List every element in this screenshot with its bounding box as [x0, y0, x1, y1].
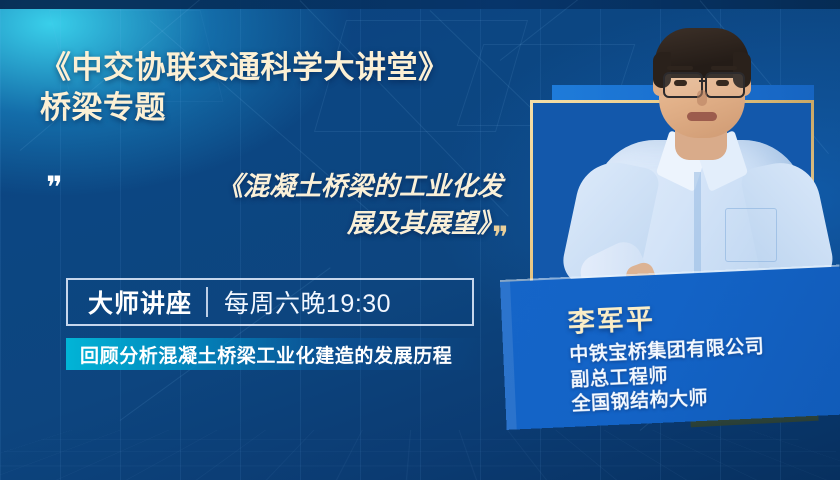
speaker-info-content: 李军平 中铁宝桥集团有限公司 副总工程师 全国钢结构大师 [500, 267, 840, 421]
lecture-title-block: ❞ 《混凝土桥梁的工业化发 展及其展望》 ❞ [40, 168, 520, 242]
lecture-title-line-2: 展及其展望》 [88, 205, 503, 242]
perspective-floor-grid [0, 430, 840, 480]
portrait-eye-left [674, 80, 687, 86]
portrait-brow-right [711, 66, 737, 70]
schedule-label: 大师讲座 [68, 284, 206, 320]
portrait-brow-left [667, 66, 693, 70]
portrait-mouth [687, 112, 717, 121]
page-title: 《中交协联交通科学大讲堂》 桥梁专题 [40, 48, 540, 129]
schedule-box: 大师讲座 每周六晚19:30 [66, 278, 474, 326]
schedule-time: 每周六晚19:30 [208, 284, 391, 320]
page-title-line-2: 桥梁专题 [40, 88, 540, 128]
portrait-eye-right [716, 80, 729, 86]
top-band [0, 0, 840, 9]
speaker-portrait-photo [575, 12, 825, 312]
lecture-title-line-1: 《混凝土桥梁的工业化发 [88, 168, 503, 205]
glasses-bridge-icon [699, 80, 707, 82]
open-quote-icon: ❞ [46, 172, 60, 203]
tagline-text: 回顾分析混凝土桥梁工业化建造的发展历程 [66, 341, 452, 368]
speaker-name: 李军平 [567, 289, 840, 340]
portrait-pocket [725, 208, 777, 262]
portrait-nose [697, 90, 707, 106]
lecture-title: 《混凝土桥梁的工业化发 展及其展望》 [88, 168, 503, 242]
close-quote-icon: ❞ [492, 222, 506, 253]
speaker-info-card: 李军平 中铁宝桥集团有限公司 副总工程师 全国钢结构大师 [500, 267, 840, 430]
poster-canvas: 《中交协联交通科学大讲堂》 桥梁专题 ❞ 《混凝土桥梁的工业化发 展及其展望》 … [0, 0, 840, 480]
tagline-banner: 回顾分析混凝土桥梁工业化建造的发展历程 [66, 338, 486, 370]
page-title-line-1: 《中交协联交通科学大讲堂》 [40, 50, 450, 85]
